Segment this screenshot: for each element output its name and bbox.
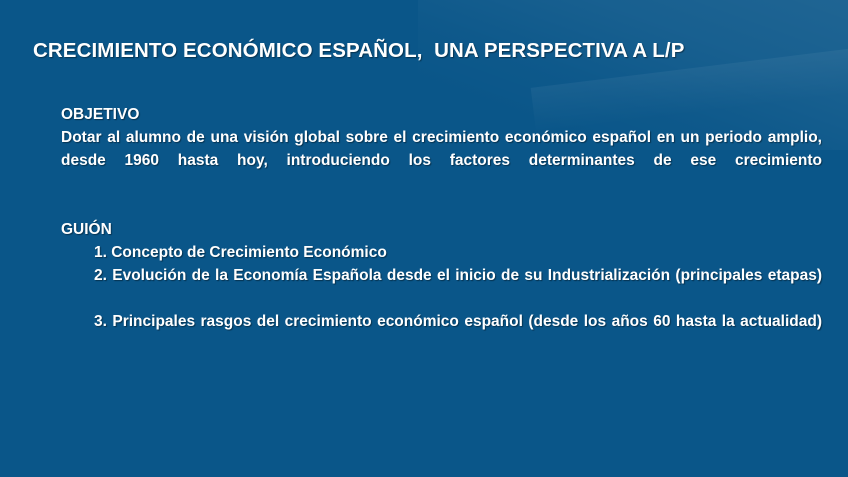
guion-list: 1. Concepto de Crecimiento Económico 2. … (61, 241, 822, 356)
slide-title: CRECIMIENTO ECONÓMICO ESPAÑOL, UNA PERSP… (33, 38, 833, 64)
objetivo-heading: OBJETIVO (61, 103, 822, 126)
guion-list-item: 2. Evolución de la Economía Española des… (94, 264, 822, 310)
objetivo-body: Dotar al alumno de una visión global sob… (61, 126, 822, 195)
guion-heading: GUIÓN (61, 218, 822, 241)
guion-list-item: 3. Principales rasgos del crecimiento ec… (94, 310, 822, 356)
slide-content: OBJETIVO Dotar al alumno de una visión g… (61, 103, 822, 356)
guion-list-item: 1. Concepto de Crecimiento Económico (94, 241, 822, 264)
presentation-slide: CRECIMIENTO ECONÓMICO ESPAÑOL, UNA PERSP… (0, 0, 848, 477)
